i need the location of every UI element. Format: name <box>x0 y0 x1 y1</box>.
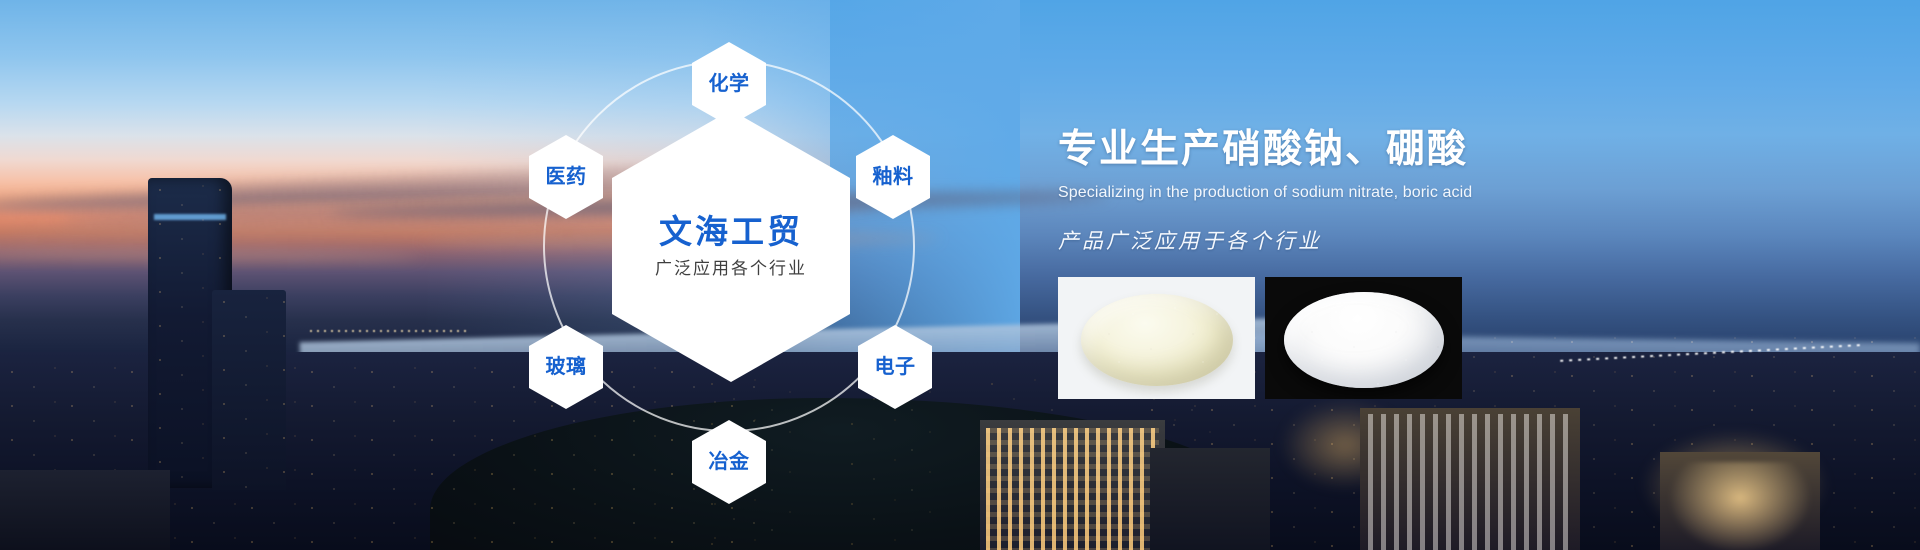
hexagon-label: 釉料 <box>873 166 914 188</box>
hexagon-label: 冶金 <box>709 451 750 473</box>
city-skyline-background <box>0 0 1920 550</box>
headline-english-subtitle: Specializing in the production of sodium… <box>1058 184 1618 202</box>
headline-text: 专业生产硝酸钠、硼酸 <box>1058 128 1618 173</box>
powder-grain-texture <box>1284 292 1444 388</box>
hexagon-label: 化学 <box>709 73 750 95</box>
boric-acid-photo[interactable] <box>1265 277 1462 399</box>
headline-tagline: 产品广泛应用于各个行业 <box>1058 225 1618 255</box>
hexagon-label: 电子 <box>875 356 916 378</box>
company-name: 文海工贸 <box>659 214 803 250</box>
foreground-building <box>1150 448 1270 550</box>
company-tagline: 广泛应用各个行业 <box>655 260 807 279</box>
foreground-building <box>1660 452 1820 550</box>
sodium-nitrate-photo[interactable] <box>1058 277 1255 399</box>
foreground-building <box>0 470 170 550</box>
foreground-building <box>1360 408 1580 550</box>
product-photo-group <box>1058 277 1462 399</box>
powder-grain-texture <box>1081 294 1233 386</box>
hexagon-label: 医药 <box>546 166 587 188</box>
powder-pile-cream <box>1081 294 1233 386</box>
hexagon-label: 玻璃 <box>546 356 587 378</box>
bridge-lights <box>310 330 470 332</box>
foreground-building <box>980 420 1165 550</box>
secondary-tower <box>212 290 286 490</box>
headline-block: 专业生产硝酸钠、硼酸 Specializing in the productio… <box>1058 128 1618 255</box>
hero-banner: 文海工贸 广泛应用各个行业 化学 釉料 电子 冶金 玻璃 医药 专业生产硝酸钠、… <box>0 0 1920 550</box>
powder-pile-white <box>1284 292 1444 388</box>
